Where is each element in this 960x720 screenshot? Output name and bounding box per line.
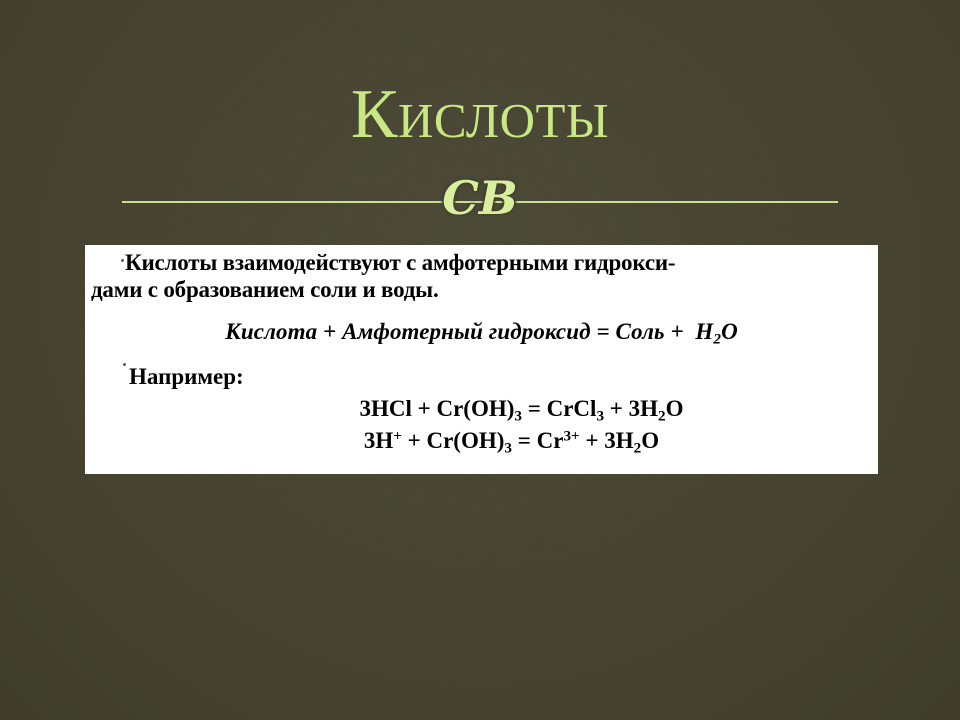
equation-molecular: 3HCl + Cr(OH)3 = CrCl3 + 3H2O <box>85 395 878 423</box>
paragraph-line-2: дами с образованием соли и воды. <box>91 277 439 302</box>
slide-canvas: Кислоты CB Кислоты взаимодействуют с амф… <box>0 0 960 720</box>
equation-molecular-text: 3HCl + Cr(OH)3 = CrCl3 + 3H2O <box>359 396 683 421</box>
body-paragraph: Кислоты взаимодействуют с амфотерными ги… <box>91 249 873 303</box>
general-equation-text: Кислота + Амфотерный гидроксид = Соль + … <box>225 319 738 344</box>
content-card: Кислоты взаимодействуют с амфотерными ги… <box>85 245 878 474</box>
equation-ionic: 3H+ + Cr(OH)3 = Cr3+ + 3H2O <box>85 427 878 455</box>
page-title: Кислоты <box>0 74 960 156</box>
example-label: Например: <box>129 363 244 391</box>
ornamental-divider: CB <box>122 178 838 226</box>
paragraph-line-1: Кислоты взаимодействуют с амфотерными ги… <box>125 250 675 275</box>
equation-ionic-text: 3H+ + Cr(OH)3 = Cr3+ + 3H2O <box>364 428 659 453</box>
scan-speck-icon <box>123 363 126 366</box>
general-equation: Кислота + Амфотерный гидроксид = Соль + … <box>85 318 878 346</box>
fleuron-ornament-icon: CB <box>432 168 528 228</box>
